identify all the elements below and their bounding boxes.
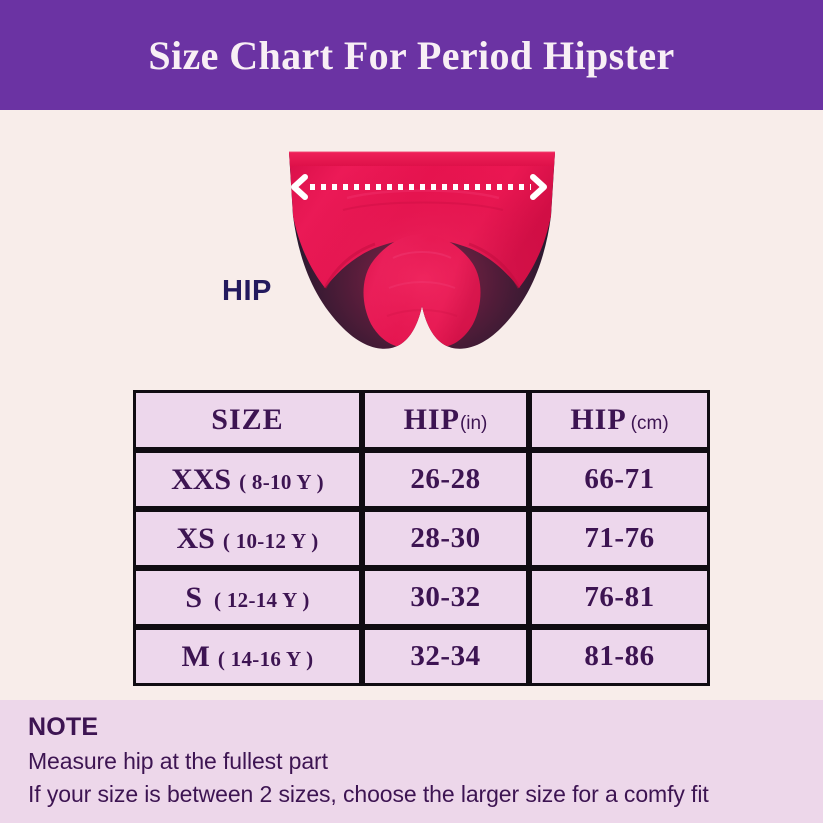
table-row: S ( 12-14 Y ) 30-32 76-81 [133,568,710,627]
cell-hip-cm: 71-76 [529,509,710,568]
garment-photo [283,138,561,366]
table-row: XXS ( 8-10 Y ) 26-28 66-71 [133,450,710,509]
column-header-hip-in-unit: (in) [460,413,487,434]
size-code: S [185,581,202,614]
note-band: NOTE Measure hip at the fullest part If … [0,700,823,823]
size-age-range: ( 8-10 Y ) [239,470,324,494]
table-row: M ( 14-16 Y ) 32-34 81-86 [133,627,710,686]
size-chart-page: Size Chart For Period Hipster HIP [0,0,823,823]
cell-hip-cm: 76-81 [529,568,710,627]
size-code: XXS [171,463,231,496]
size-age-range: ( 10-12 Y ) [223,529,319,553]
column-header-hip-cm-unit: (cm) [631,413,669,434]
cell-hip-in: 30-32 [362,568,529,627]
page-title: Size Chart For Period Hipster [0,0,823,110]
size-code: XS [177,522,215,555]
size-code: M [182,640,210,673]
column-header-hip-in: HIP(in) [362,390,529,450]
column-header-size: SIZE [133,390,362,450]
cell-size: XXS ( 8-10 Y ) [133,450,362,509]
table-row: XS ( 10-12 Y ) 28-30 71-76 [133,509,710,568]
cell-size: S ( 12-14 Y ) [133,568,362,627]
cell-hip-cm: 66-71 [529,450,710,509]
cell-hip-in: 26-28 [362,450,529,509]
column-header-hip-cm: HIP (cm) [529,390,710,450]
cell-size: M ( 14-16 Y ) [133,627,362,686]
note-line-1: Measure hip at the fullest part [28,745,811,778]
size-chart-table: SIZE HIP(in) HIP (cm) XXS ( 8-10 Y ) 26-… [133,390,710,686]
column-header-hip-in-label: HIP [404,403,460,436]
hip-measurement-label: HIP [222,277,272,306]
note-heading: NOTE [28,712,811,743]
note-content: NOTE Measure hip at the fullest part If … [28,712,811,811]
size-age-range: ( 14-16 Y ) [218,647,314,671]
cell-size: XS ( 10-12 Y ) [133,509,362,568]
cell-hip-in: 32-34 [362,627,529,686]
product-illustration-area: HIP [0,110,823,385]
size-age-range: ( 12-14 Y ) [214,588,310,612]
column-header-size-label: SIZE [211,403,283,436]
note-line-2: If your size is between 2 sizes, choose … [28,778,811,811]
cell-hip-in: 28-30 [362,509,529,568]
table-header-row: SIZE HIP(in) HIP (cm) [133,390,710,450]
column-header-hip-cm-label: HIP [570,403,626,436]
header-band: Size Chart For Period Hipster [0,0,823,110]
cell-hip-cm: 81-86 [529,627,710,686]
hip-measurement-arrow [288,174,550,200]
